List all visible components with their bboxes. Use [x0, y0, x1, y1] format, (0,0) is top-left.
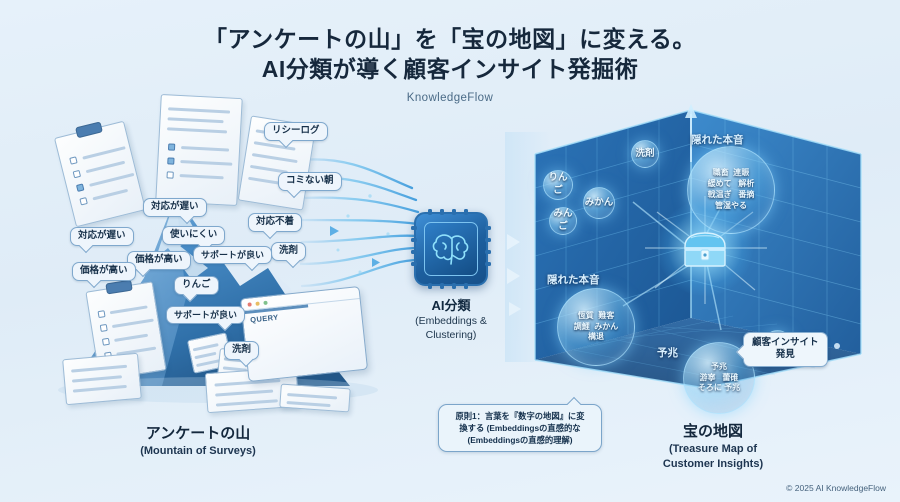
treasure-map-cube: 隠れた本音 隠れた本音 予兆 りんご みかん みんご 洗剤 洗剤 職畜 連賑緩め… [505, 92, 885, 392]
cube-section-label: 隠れた本音 [547, 272, 600, 287]
principle-callout: 原則1：言葉を『数字の地図』に変 換する (Embeddingsの直感的な (E… [438, 404, 602, 452]
chip-core [424, 222, 478, 276]
survey-comment-bubble[interactable]: 洗剤 [271, 242, 306, 261]
insight-tag-line1: 顧客インサイト [752, 337, 819, 349]
page-title-line2: AI分類が導く顧客インサイト発掘術 [0, 54, 900, 84]
keyword-orb-label: りんご [544, 172, 572, 198]
query-window[interactable]: QUERY [240, 286, 368, 382]
page-title-line1: 「アンケートの山」を「宝の地図」に変える。 [0, 24, 900, 54]
survey-comment-text: 洗剤 [232, 344, 251, 355]
treasure-chest-icon[interactable] [681, 230, 729, 270]
cube-caption-en-line2: Customer Insights) [618, 457, 808, 471]
keyword-orb[interactable]: みんご [549, 207, 577, 235]
checkbox [79, 197, 87, 205]
window-close-dot[interactable] [247, 302, 251, 306]
cluster-orb-words: 恆質 難客調鯉 みかん構退 [574, 311, 618, 343]
header: 「アンケートの山」を「宝の地図」に変える。 AI分類が導く顧客インサイト発掘術 … [0, 24, 900, 104]
survey-comment-text: 価格が高い [80, 265, 128, 276]
window-maximize-dot[interactable] [263, 301, 267, 305]
ai-classification-block: AI分類 (Embeddings & Clustering) [405, 212, 497, 362]
cube-caption: 宝の地図 (Treasure Map of Customer Insights) [618, 420, 808, 472]
survey-comment-text: サポートが良い [201, 250, 264, 260]
window-minimize-dot[interactable] [255, 301, 259, 305]
loose-sheet-bottom-left [62, 353, 142, 405]
cluster-orb[interactable]: 恆質 難客調鯉 みかん構退 [557, 288, 635, 366]
survey-comment-text: 価格が高い [135, 254, 183, 265]
keyword-orb-label: みんご [550, 208, 576, 234]
survey-comment-text: サポートが良い [174, 310, 237, 320]
survey-comment-bubble[interactable]: サポートが良い [166, 306, 245, 324]
cube-caption-en-line1: (Treasure Map of [618, 442, 808, 456]
survey-sheet-top-center [155, 94, 243, 206]
survey-comment-bubble[interactable]: 対応不着 [248, 213, 302, 232]
keyword-orb[interactable]: みかん [583, 187, 615, 219]
cluster-orb-words: 予兆游寧 蕾碓そろに 予兆 [698, 362, 740, 394]
mountain-caption: アンケートの山 (Mountain of Surveys) [108, 422, 288, 458]
survey-comment-text: 対応不着 [256, 216, 294, 227]
survey-comment-bubble[interactable]: りんご [174, 276, 219, 295]
copyright: © 2025 AI KnowledgeFlow [786, 483, 886, 493]
checkbox [167, 157, 174, 164]
cube-section-label: 予兆 [657, 345, 678, 360]
infographic-canvas: 「アンケートの山」を「宝の地図」に変える。 AI分類が導く顧客インサイト発掘術 … [0, 0, 900, 502]
keyword-orb[interactable]: りんご [543, 170, 573, 200]
survey-comment-text: りんご [182, 279, 211, 290]
ai-chip[interactable] [414, 212, 488, 286]
survey-comment-bubble[interactable]: コミない朝 [278, 172, 342, 191]
checkbox [100, 324, 108, 332]
survey-comment-bubble[interactable]: 対応が遅い [143, 198, 207, 217]
insight-tag-line2: 発見 [752, 349, 819, 361]
checkbox [69, 156, 77, 164]
ai-sub-line1: (Embeddings & [405, 315, 497, 328]
checkbox [168, 143, 175, 150]
survey-comment-text: 使いにくい [170, 229, 217, 240]
cluster-orb[interactable]: 職畜 連賑緩めて 解析戟温ぎ 番摘管湿やる [687, 146, 775, 234]
survey-comment-text: 対応が遅い [78, 230, 126, 241]
ai-label: AI分類 [405, 295, 497, 314]
checkbox [98, 310, 106, 318]
survey-comment-bubble[interactable]: リシーログ [264, 122, 328, 141]
survey-comment-bubble[interactable]: 洗剤 [224, 341, 259, 360]
keyword-orb[interactable]: 洗剤 [631, 140, 659, 168]
survey-comment-bubble[interactable]: 価格が高い [72, 262, 136, 281]
cube-caption-ja: 宝の地図 [618, 420, 808, 441]
loose-sheet-bottom-right [279, 384, 351, 413]
keyword-orb-label: 洗剤 [635, 148, 654, 161]
cluster-orb-words: 職畜 連賑緩めて 解析戟温ぎ 番摘管湿やる [708, 168, 755, 211]
ai-sub-line2: Clustering) [405, 329, 497, 342]
mountain-caption-en: (Mountain of Surveys) [108, 444, 288, 458]
checkbox [166, 171, 173, 178]
survey-comment-text: 洗剤 [279, 245, 298, 256]
survey-comment-bubble[interactable]: 使いにくい [162, 226, 225, 245]
principle-line3: (Embeddingsの直感的理解) [446, 434, 594, 446]
principle-line2: 換する (Embeddingsの直感的な [446, 422, 594, 434]
survey-comment-bubble[interactable]: 対応が遅い [70, 227, 134, 246]
checkbox [73, 170, 81, 178]
survey-comment-bubble[interactable]: 価格が高い [127, 251, 191, 270]
query-label: QUERY [250, 313, 279, 325]
survey-comment-text: リシーログ [272, 125, 320, 136]
brand-name: KnowledgeFlow [0, 92, 900, 104]
principle-line1: 原則1：言葉を『数字の地図』に変 [446, 410, 594, 422]
customer-insight-tag: 顧客インサイト 発見 [743, 332, 828, 367]
survey-comment-text: 対応が遅い [151, 201, 199, 212]
brain-icon [430, 231, 472, 267]
cube-section-label: 隠れた本音 [691, 132, 744, 147]
checkbox [102, 338, 110, 346]
survey-comment-text: コミない朝 [286, 175, 334, 186]
survey-comment-bubble[interactable]: サポートが良い [193, 246, 272, 264]
mountain-caption-ja: アンケートの山 [108, 422, 288, 443]
keyword-orb-label: みかん [585, 197, 614, 210]
checkbox [76, 183, 84, 191]
